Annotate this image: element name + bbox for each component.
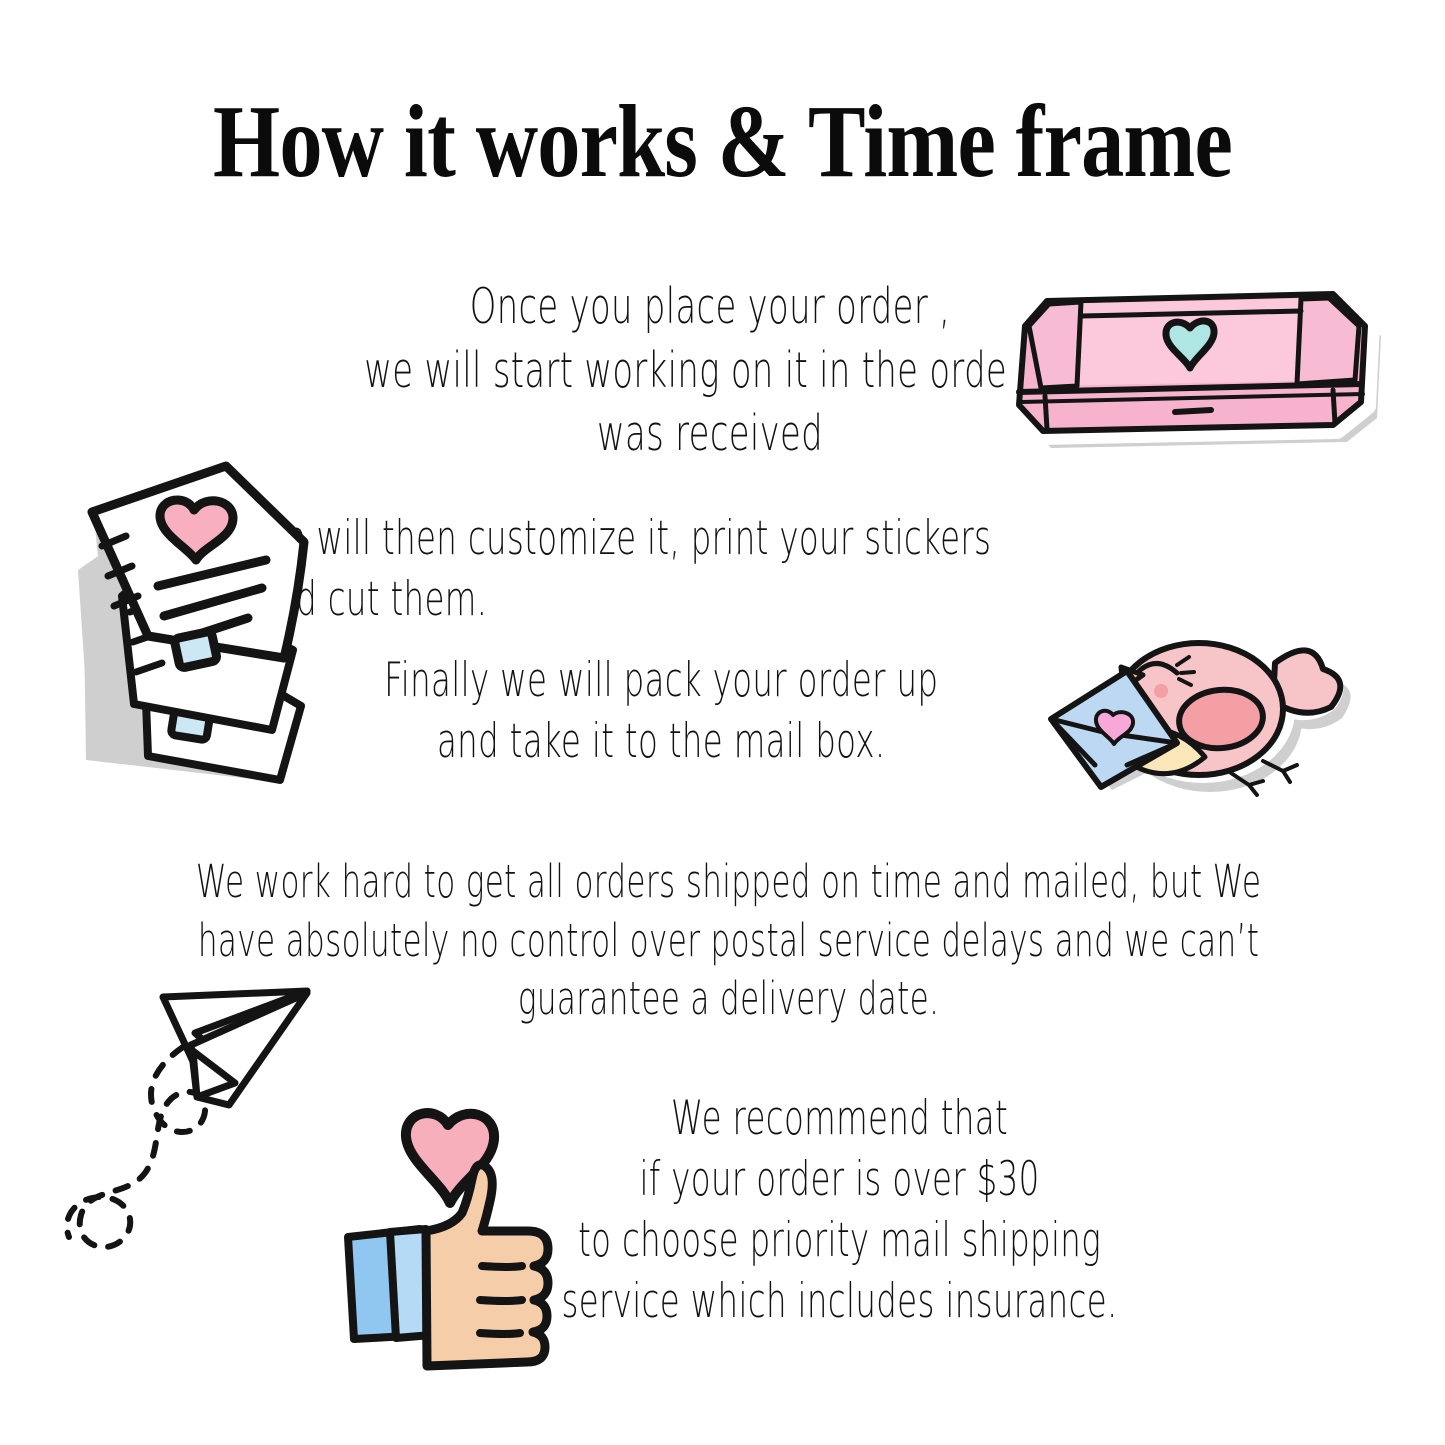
bird-lash [1181,672,1194,673]
machine-left-cap [1029,302,1081,388]
sheet-top-tab [174,631,217,668]
thumbs-up-sticker [330,1085,580,1345]
infographic-page: How it works & Time frame Once you place… [0,0,1445,1445]
sticker-sheets-sticker [48,450,358,800]
machine-front-slot [1175,410,1211,412]
finger-crease [480,1333,520,1334]
page-title: How it works & Time frame [123,86,1322,198]
finger-crease [480,1300,522,1301]
cutting-machine-sticker [985,268,1385,458]
paragraph-customize-print: We will then customize it, print your st… [255,508,1235,630]
machine-foot-right [1333,390,1335,423]
airplane-trail [67,1047,205,1247]
bird-cheek [1154,684,1168,698]
paper-airplane-illustration [55,965,365,1275]
machine-foot-left [1045,396,1047,429]
finger-crease [482,1266,522,1267]
mail-bird-sticker [1035,615,1365,830]
paragraph-pack-mail: Finally we will pack your order up and t… [230,650,1093,772]
